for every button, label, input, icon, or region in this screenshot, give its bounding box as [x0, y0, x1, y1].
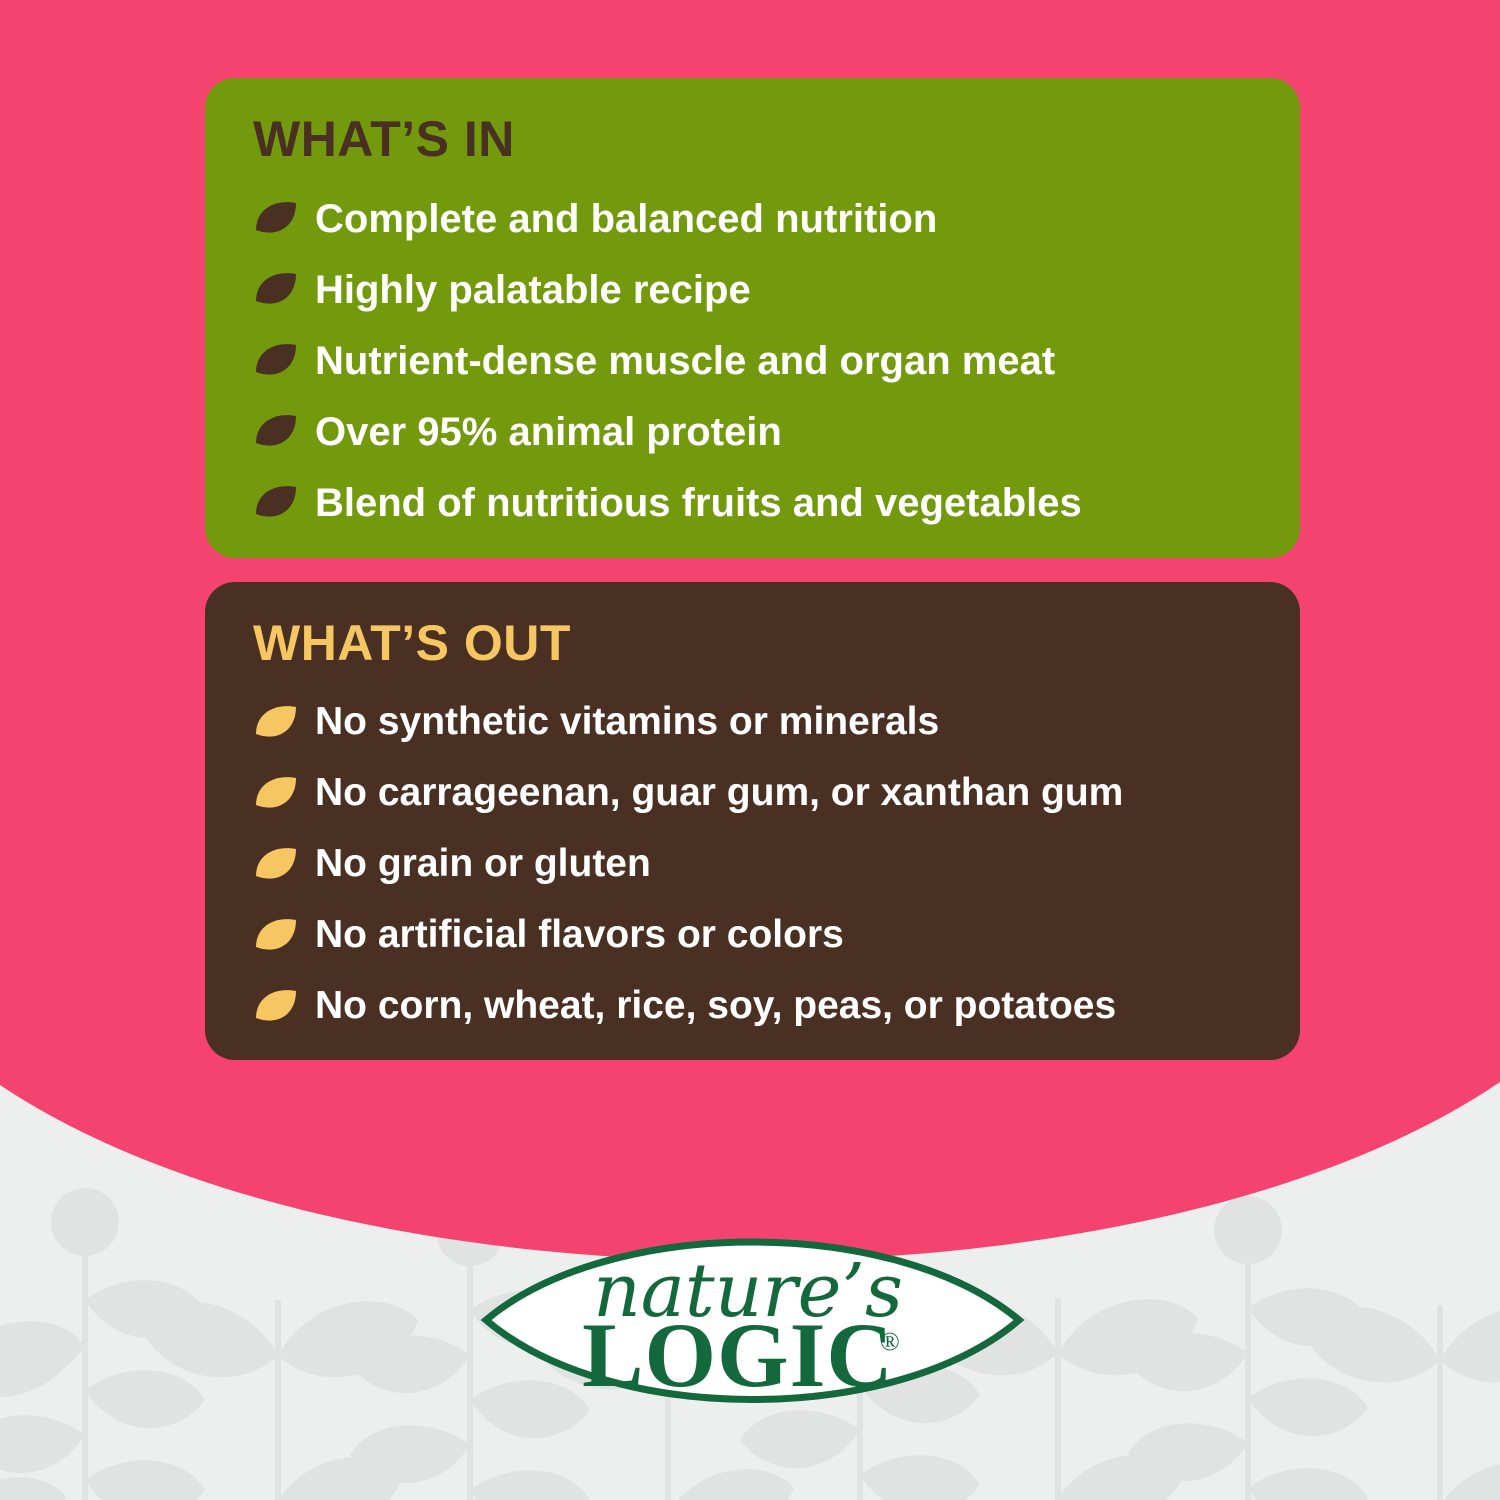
list-item-label: Complete and balanced nutrition: [315, 198, 937, 240]
list-item-label: No grain or gluten: [315, 844, 651, 885]
list-item: No grain or gluten: [253, 831, 1260, 898]
leaf-icon: [253, 197, 299, 243]
list-item: Complete and balanced nutrition: [253, 185, 1260, 252]
list-item-label: No synthetic vitamins or minerals: [315, 702, 939, 743]
leaf-icon: [253, 339, 299, 385]
list-item: Over 95% animal protein: [253, 398, 1260, 465]
leaf-icon: [253, 410, 299, 456]
whats-in-panel: WHAT’S IN Complete and balanced nutritio…: [205, 78, 1300, 558]
leaf-icon: [253, 914, 299, 960]
whats-out-panel: WHAT’S OUT No synthetic vitamins or mine…: [205, 582, 1300, 1060]
leaf-icon: [253, 268, 299, 314]
leaf-icon: [253, 772, 299, 818]
list-item: No artificial flavors or colors: [253, 902, 1260, 969]
list-item-label: Blend of nutritious fruits and vegetable…: [315, 482, 1082, 524]
whats-in-title: WHAT’S IN: [253, 112, 1260, 167]
list-item: No synthetic vitamins or minerals: [253, 689, 1260, 756]
whats-out-list: No synthetic vitamins or minerals No car…: [253, 689, 1260, 1040]
leaf-icon: [253, 985, 299, 1031]
list-item: No carrageenan, guar gum, or xanthan gum: [253, 760, 1260, 827]
natures-logic-logo: nature’s LOGIC ®: [480, 1198, 1025, 1443]
leaf-icon: [253, 701, 299, 747]
list-item-label: Nutrient-dense muscle and organ meat: [315, 340, 1055, 382]
list-item: No corn, wheat, rice, soy, peas, or pota…: [253, 973, 1260, 1040]
list-item: Nutrient-dense muscle and organ meat: [253, 327, 1260, 394]
list-item-label: Highly palatable recipe: [315, 269, 751, 311]
list-item-label: No carrageenan, guar gum, or xanthan gum: [315, 773, 1123, 814]
logo-wordmark-text: LOGIC: [582, 1304, 894, 1406]
poster-canvas: WHAT’S IN Complete and balanced nutritio…: [0, 0, 1500, 1500]
logo-registered-mark: ®: [880, 1327, 900, 1356]
leaf-icon: [253, 843, 299, 889]
whats-out-title: WHAT’S OUT: [253, 616, 1260, 671]
list-item-label: Over 95% animal protein: [315, 411, 782, 453]
list-item-label: No artificial flavors or colors: [315, 915, 844, 956]
leaf-icon: [253, 481, 299, 527]
list-item: Blend of nutritious fruits and vegetable…: [253, 469, 1260, 536]
list-item: Highly palatable recipe: [253, 256, 1260, 323]
whats-in-list: Complete and balanced nutrition Highly p…: [253, 185, 1260, 536]
list-item-label: No corn, wheat, rice, soy, peas, or pota…: [315, 986, 1116, 1027]
